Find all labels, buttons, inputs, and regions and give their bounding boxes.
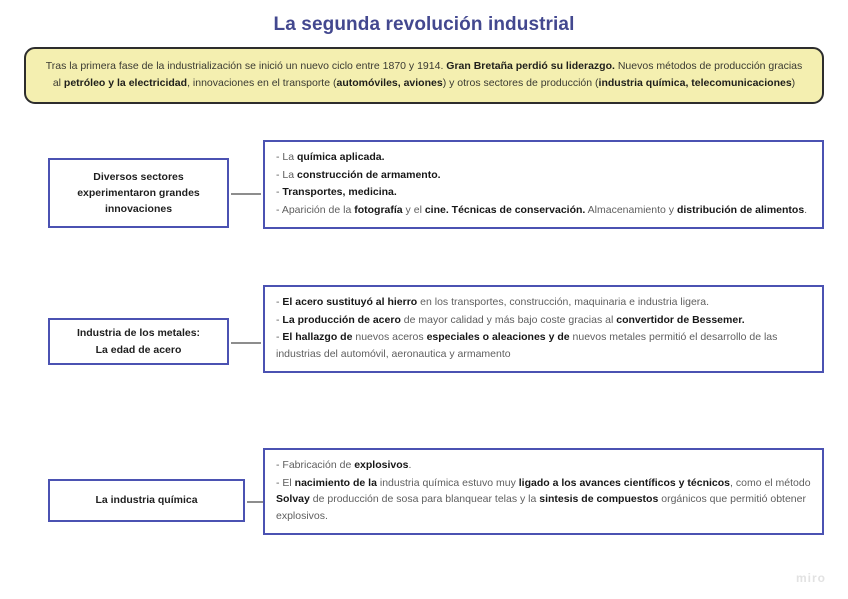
bullet-text: de mayor calidad y más bajo coste gracia… xyxy=(401,314,616,326)
bullet-text: . xyxy=(804,204,807,216)
section-content-innovaciones: - La química aplicada.- La construcción … xyxy=(263,140,824,229)
bullet-emphasis: explosivos xyxy=(354,459,408,471)
bullet-item: - La química aplicada. xyxy=(276,149,811,166)
label-line-0: La industria química xyxy=(95,492,197,508)
bullet-emphasis: distribución de alimentos xyxy=(677,204,804,216)
bullet-emphasis: sintesis de compuestos xyxy=(539,493,658,505)
connector-line-3 xyxy=(247,501,263,503)
bullet-emphasis: fotografía xyxy=(354,204,402,216)
bullet-text: . xyxy=(408,459,411,471)
connector-line-2 xyxy=(231,342,261,344)
connector-line-1 xyxy=(231,193,261,195)
bullet-emphasis: construcción de armamento. xyxy=(297,169,441,181)
bullet-text: - La xyxy=(276,151,297,163)
bullet-item: - La producción de acero de mayor calida… xyxy=(276,312,811,329)
section-content-quimica: - Fabricación de explosivos.- El nacimie… xyxy=(263,448,824,535)
summary-text-part-4: ) y otros sectores de producción ( xyxy=(443,77,599,89)
bullet-item: - Aparición de la fotografía y el cine. … xyxy=(276,202,811,219)
summary-bold-3: automóviles, aviones xyxy=(336,77,442,89)
bullet-emphasis: La producción de acero xyxy=(282,314,400,326)
bullet-text: Almacenamiento y xyxy=(585,204,677,216)
summary-text-part-3: , innovaciones en el transporte ( xyxy=(187,77,336,89)
summary-text-part-5: ) xyxy=(792,77,796,89)
bullet-text: y el xyxy=(403,204,425,216)
bullet-emphasis: Solvay xyxy=(276,493,310,505)
label-line-1: experimentaron grandes xyxy=(77,185,200,201)
bullet-text: de producción de sosa para blanquear tel… xyxy=(310,493,539,505)
label-line-2: innovaciones xyxy=(77,201,200,217)
summary-bold-2: petróleo y la electricidad xyxy=(64,77,187,89)
bullet-emphasis: El hallazgo de xyxy=(282,331,352,343)
section-row-innovaciones: Diversos sectoresexperimentaron grandesi… xyxy=(0,140,848,240)
bullet-item: - El nacimiento de la industria química … xyxy=(276,475,811,525)
summary-bold-1: Gran Bretaña perdió su liderazgo. xyxy=(446,60,615,72)
bullet-emphasis: especiales o aleaciones y de xyxy=(427,331,570,343)
bullet-text: - El xyxy=(276,477,295,489)
bullet-item: - Fabricación de explosivos. xyxy=(276,457,811,474)
bullet-text: - Aparición de la xyxy=(276,204,354,216)
bullet-emphasis: convertidor de Bessemer. xyxy=(616,314,744,326)
page-title: La segunda revolución industrial xyxy=(0,14,848,36)
bullet-text: industria química estuvo muy xyxy=(377,477,519,489)
bullet-item: - El acero sustituyó al hierro en los tr… xyxy=(276,294,811,311)
section-label-text: La industria química xyxy=(95,492,197,508)
bullet-text: nuevos metales xyxy=(570,331,649,343)
bullet-emphasis: ligado a los avances científicos y técni… xyxy=(519,477,730,489)
bullet-item: - Transportes, medicina. xyxy=(276,184,811,201)
label-line-0: Diversos sectores xyxy=(77,169,200,185)
bullet-text: en los transportes, construcción, maquin… xyxy=(417,296,709,308)
bullet-emphasis: química aplicada. xyxy=(297,151,385,163)
section-label-text: Diversos sectoresexperimentaron grandesi… xyxy=(77,169,200,218)
section-row-metales: Industria de los metales:La edad de acer… xyxy=(0,285,848,415)
label-line-1: La edad de acero xyxy=(77,342,200,358)
bullet-text: - La xyxy=(276,169,297,181)
bullet-emphasis: cine. Técnicas de conservación. xyxy=(425,204,586,216)
summary-callout: Tras la primera fase de la industrializa… xyxy=(24,47,824,104)
label-line-0: Industria de los metales: xyxy=(77,325,200,341)
section-content-metales: - El acero sustituyó al hierro en los tr… xyxy=(263,285,824,373)
section-row-quimica: La industria química - Fabricación de ex… xyxy=(0,448,848,548)
bullet-text: nuevos aceros xyxy=(352,331,426,343)
bullet-text: - Fabricación de xyxy=(276,459,354,471)
section-label-metales[interactable]: Industria de los metales:La edad de acer… xyxy=(48,318,229,365)
bullet-text: , como el método xyxy=(730,477,811,489)
bullet-item: - La construcción de armamento. xyxy=(276,167,811,184)
miro-watermark: miro xyxy=(796,571,826,585)
bullet-item: - El hallazgo de nuevos aceros especiale… xyxy=(276,329,811,362)
section-label-quimica[interactable]: La industria química xyxy=(48,479,245,522)
bullet-emphasis: El acero sustituyó al hierro xyxy=(282,296,417,308)
summary-text-part-1: Tras la primera fase de la industrializa… xyxy=(46,60,447,72)
section-label-innovaciones[interactable]: Diversos sectoresexperimentaron grandesi… xyxy=(48,158,229,228)
section-label-text: Industria de los metales:La edad de acer… xyxy=(77,325,200,358)
bullet-emphasis: Transportes, medicina. xyxy=(282,186,396,198)
bullet-emphasis: nacimiento de la xyxy=(295,477,377,489)
summary-bold-4: industria química, telecomunicaciones xyxy=(599,77,792,89)
